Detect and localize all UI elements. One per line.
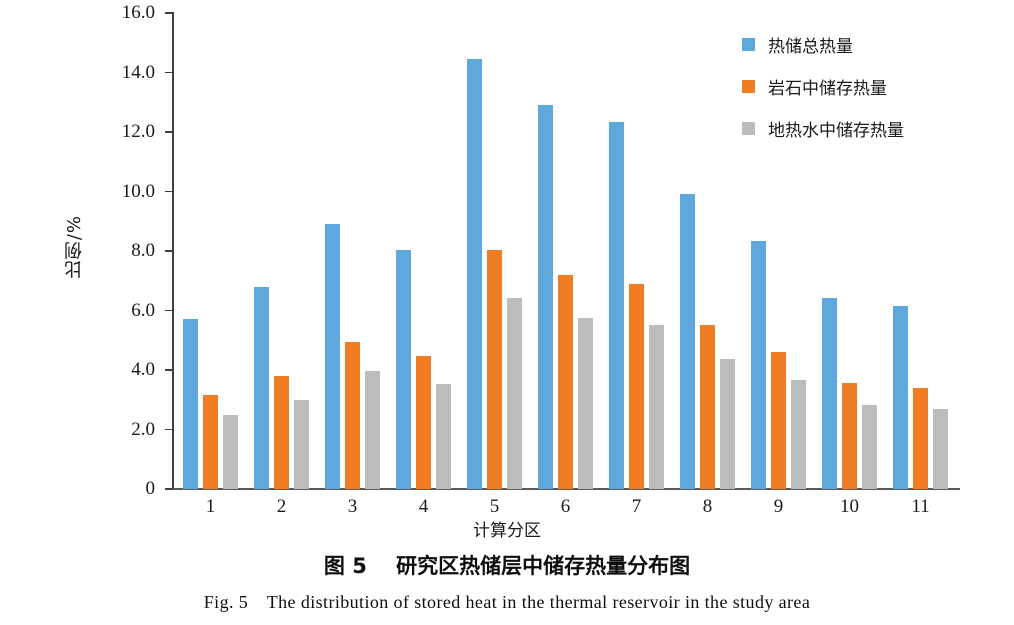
legend-swatch-water-heat (742, 122, 755, 135)
y-axis-tick (165, 131, 173, 133)
x-axis-tick-label: 1 (181, 496, 241, 518)
bar (680, 194, 695, 489)
bar (345, 342, 360, 489)
bar (578, 318, 593, 489)
legend-swatch-rock-heat (742, 80, 755, 93)
y-axis-tick-labels: 02.04.06.08.010.012.014.016.0 (95, 0, 155, 500)
figure-caption-cn-number: 图 5 (324, 554, 367, 578)
bar (893, 306, 908, 489)
bar (365, 371, 380, 489)
bar (629, 284, 644, 489)
y-axis-tick-label: 8.0 (95, 241, 155, 260)
y-axis-tick (165, 429, 173, 431)
bar (771, 352, 786, 489)
bar (538, 105, 553, 489)
y-axis-tick-label: 0 (95, 479, 155, 498)
y-axis-tick (165, 250, 173, 252)
y-axis-tick (165, 72, 173, 74)
y-axis-tick (165, 12, 173, 14)
chart-legend: 热储总热量岩石中储存热量地热水中储存热量 (742, 34, 992, 160)
bar-group (680, 13, 735, 489)
y-axis-tick-label: 6.0 (95, 301, 155, 320)
bar (396, 250, 411, 489)
bar (913, 388, 928, 489)
bar-group (254, 13, 309, 489)
x-axis-tick-label: 9 (749, 496, 809, 518)
bar (183, 319, 198, 489)
x-axis-tick-label: 3 (323, 496, 383, 518)
bar (862, 405, 877, 489)
bar (294, 400, 309, 489)
y-axis-tick (165, 488, 173, 490)
legend-item: 热储总热量 (742, 34, 992, 54)
legend-item: 地热水中储存热量 (742, 118, 992, 138)
y-axis-tick-label: 10.0 (95, 182, 155, 201)
bar (436, 384, 451, 489)
bar (609, 122, 624, 489)
bar (254, 287, 269, 489)
bar (933, 409, 948, 489)
bar (467, 59, 482, 489)
y-axis-tick-label: 14.0 (95, 63, 155, 82)
figure-container: 02.04.06.08.010.012.014.016.0 比例/% 12345… (0, 0, 1014, 625)
bar-group (538, 13, 593, 489)
bar-group (609, 13, 664, 489)
x-axis-title: 计算分区 (0, 516, 1014, 541)
bar (223, 415, 238, 489)
bar (325, 224, 340, 489)
bar (203, 395, 218, 489)
bar (507, 298, 522, 489)
figure-caption-cn-text: 研究区热储层中储存热量分布图 (396, 554, 690, 578)
x-axis-tick-label: 7 (607, 496, 667, 518)
y-axis-tick (165, 191, 173, 193)
y-axis-tick-label: 2.0 (95, 420, 155, 439)
legend-item-label: 地热水中储存热量 (768, 116, 904, 141)
y-axis-tick-label: 12.0 (95, 122, 155, 141)
bar (487, 250, 502, 489)
legend-swatch-total-heat (742, 38, 755, 51)
x-axis-tick-label: 6 (536, 496, 596, 518)
bar-group (467, 13, 522, 489)
x-axis-tick-label: 10 (820, 496, 880, 518)
bar-group (396, 13, 451, 489)
x-axis-tick-label: 4 (394, 496, 454, 518)
x-axis-tick-label: 11 (891, 496, 951, 518)
x-axis-tick-label: 8 (678, 496, 738, 518)
bar (751, 241, 766, 489)
x-axis-tick-label: 5 (465, 496, 525, 518)
figure-caption-en: Fig. 5 The distribution of stored heat i… (0, 592, 1014, 613)
bar (700, 325, 715, 489)
legend-item-label: 热储总热量 (768, 32, 853, 57)
y-axis-tick-label: 4.0 (95, 360, 155, 379)
bar (558, 275, 573, 489)
y-axis-title: 比例/% (62, 215, 88, 278)
bar (791, 380, 806, 489)
bar (274, 376, 289, 489)
bar (720, 359, 735, 489)
bar-group (183, 13, 238, 489)
y-axis-tick-label: 16.0 (95, 3, 155, 22)
figure-caption-cn: 图 5 研究区热储层中储存热量分布图 (0, 550, 1014, 580)
bar-group (325, 13, 380, 489)
figure-caption-en-text: The distribution of stored heat in the t… (267, 592, 810, 612)
bar (822, 298, 837, 489)
x-axis-tick-label: 2 (252, 496, 312, 518)
bar (842, 383, 857, 489)
y-axis-tick (165, 369, 173, 371)
legend-item-label: 岩石中储存热量 (768, 74, 887, 99)
figure-caption-en-number: Fig. 5 (204, 592, 248, 612)
y-axis-tick (165, 310, 173, 312)
bar (416, 356, 431, 489)
legend-item: 岩石中储存热量 (742, 76, 992, 96)
bar (649, 325, 664, 489)
